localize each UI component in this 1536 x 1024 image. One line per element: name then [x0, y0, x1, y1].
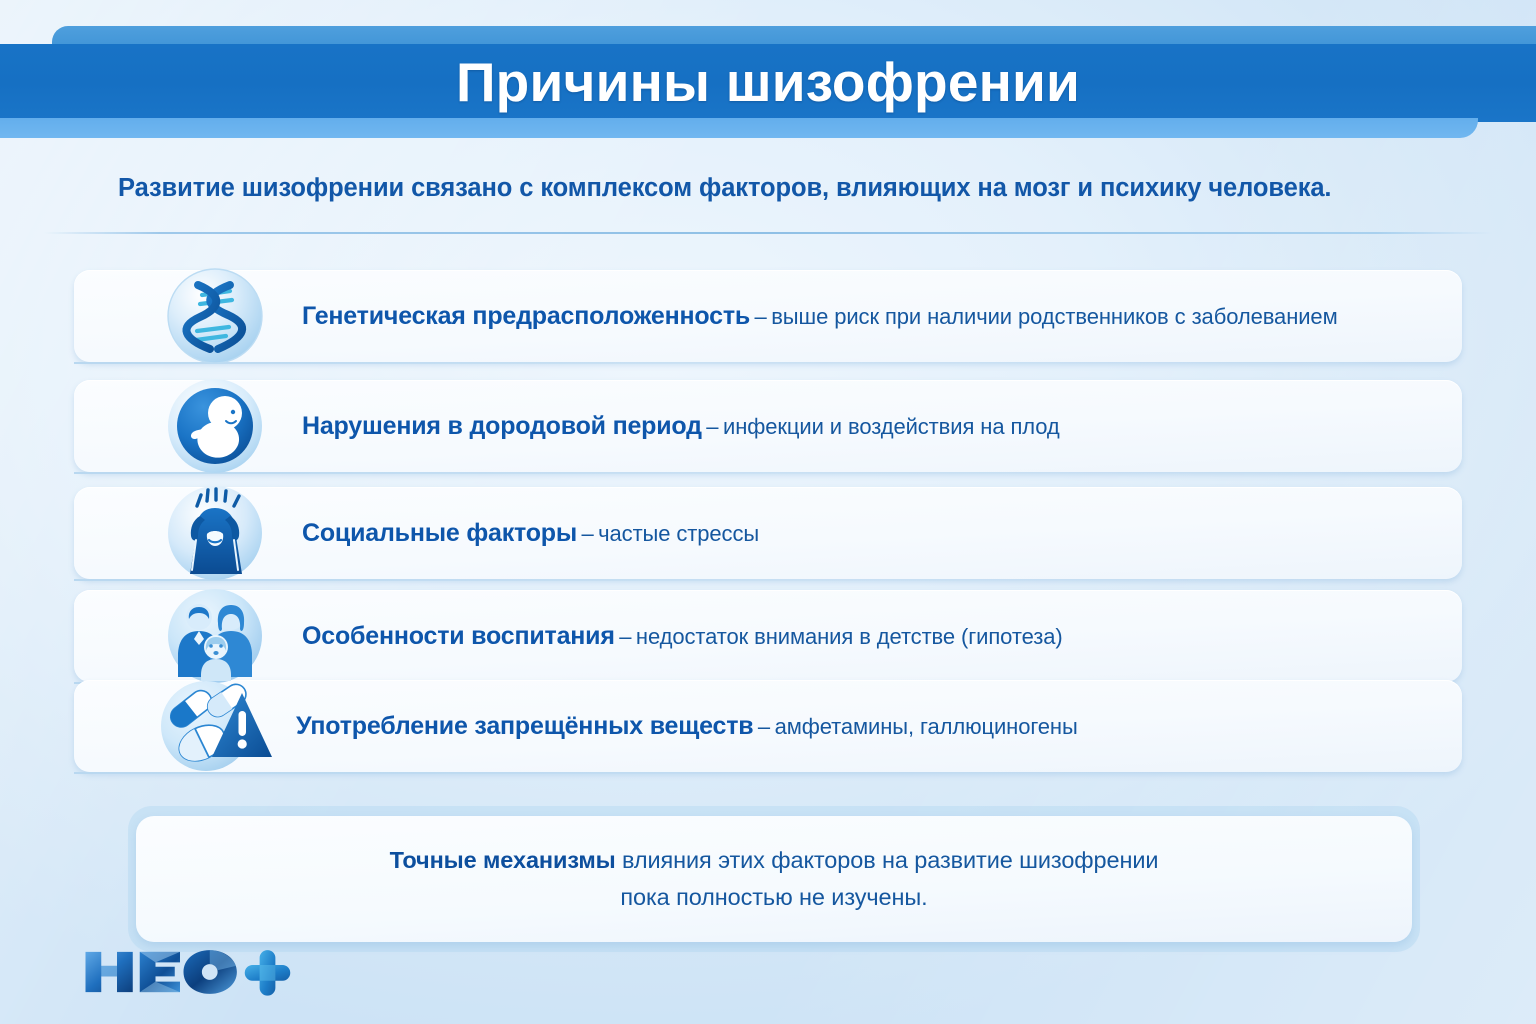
factor-dash: – [706, 414, 718, 439]
factor-dash: – [758, 714, 770, 739]
note-line-1: Точные механизмы влияния этих факторов н… [390, 847, 1159, 874]
neo-plus-logo [82, 944, 292, 1000]
row-text: Нарушения в дородовой период – инфекции … [302, 380, 1436, 472]
row-text: Особенности воспитания – недостаток вним… [302, 590, 1436, 682]
list-item[interactable]: Особенности воспитания – недостаток вним… [74, 590, 1462, 682]
factor-dash: – [581, 521, 593, 546]
fetus-icon [160, 371, 270, 481]
factor-title: Употребление запрещённых веществ [296, 712, 753, 740]
factor-description: частые стрессы [598, 521, 759, 546]
list-item[interactable]: Употребление запрещённых веществ – амфет… [74, 680, 1462, 772]
factor-description: амфетамины, галлюциногены [775, 714, 1078, 739]
card-underline [74, 579, 1462, 581]
list-item[interactable]: Генетическая предрасположенность – выше … [74, 270, 1462, 362]
factor-dash: – [755, 304, 767, 329]
note-line-1-bold: Точные механизмы [390, 847, 616, 873]
pills-warning-icon [154, 671, 264, 781]
factor-title: Социальные факторы [302, 519, 577, 547]
summary-note: Точные механизмы влияния этих факторов н… [136, 816, 1412, 942]
note-line-1-rest: влияния этих факторов на развитие шизофр… [616, 847, 1159, 873]
dna-helix-icon [160, 261, 270, 371]
factor-title: Генетическая предрасположенность [302, 302, 750, 330]
card-underline [74, 472, 1462, 474]
list-item[interactable]: Социальные факторы – частые стрессы [74, 487, 1462, 579]
row-text: Социальные факторы – частые стрессы [302, 487, 1436, 579]
factor-description: выше риск при наличии родственников с за… [771, 304, 1337, 329]
card-underline [74, 772, 1462, 774]
row-text: Генетическая предрасположенность – выше … [302, 270, 1436, 362]
infographic-canvas: Причины шизофрении Развитие шизофрении с… [0, 0, 1536, 1024]
factor-title: Особенности воспитания [302, 622, 615, 650]
note-line-2: пока полностью не изучены. [620, 884, 927, 911]
factor-title: Нарушения в дородовой период [302, 412, 702, 440]
card-underline [74, 362, 1462, 364]
stressed-person-icon [160, 478, 270, 588]
list-item[interactable]: Нарушения в дородовой период – инфекции … [74, 380, 1462, 472]
factor-description: инфекции и воздействия на плод [723, 414, 1060, 439]
row-text: Употребление запрещённых веществ – амфет… [296, 680, 1436, 772]
factor-description: недостаток внимания в детстве (гипотеза) [636, 624, 1063, 649]
factor-dash: – [619, 624, 631, 649]
